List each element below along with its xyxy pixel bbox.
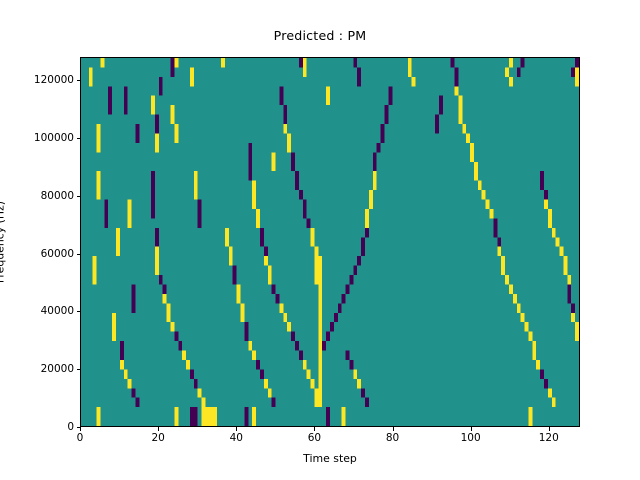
x-tick-mark [236, 427, 237, 431]
y-tick-label: 80000 [0, 190, 74, 202]
x-tick-label: 20 [151, 432, 164, 444]
matplotlib-figure: Predicted : PM 020406080100120 020000400… [0, 0, 640, 480]
y-tick-label: 60000 [0, 248, 74, 260]
y-tick-mark [77, 138, 81, 139]
y-tick-label: 100000 [0, 132, 74, 144]
x-tick-mark [549, 427, 550, 431]
y-tick-mark [77, 254, 81, 255]
y-tick-mark [77, 311, 81, 312]
page-title: Predicted : PM [0, 28, 640, 43]
heatmap-image [81, 58, 579, 426]
y-tick-label: 20000 [0, 363, 74, 375]
y-tick-label: 120000 [0, 74, 74, 86]
y-tick-label: 0 [0, 421, 74, 433]
x-tick-label: 0 [77, 432, 84, 444]
x-tick-mark [80, 427, 81, 431]
y-tick-mark [77, 369, 81, 370]
y-tick-mark [77, 427, 81, 428]
x-tick-mark [314, 427, 315, 431]
x-tick-mark [158, 427, 159, 431]
heatmap-plot-area [80, 57, 580, 427]
x-tick-label: 60 [308, 432, 321, 444]
y-axis-label: Frequency (Hz) [0, 201, 7, 283]
x-tick-label: 40 [230, 432, 243, 444]
x-axis-label: Time step [80, 452, 580, 465]
x-tick-label: 120 [539, 432, 559, 444]
x-tick-label: 80 [386, 432, 399, 444]
y-tick-mark [77, 80, 81, 81]
y-tick-mark [77, 196, 81, 197]
x-tick-mark [471, 427, 472, 431]
x-tick-mark [393, 427, 394, 431]
x-tick-label: 100 [461, 432, 481, 444]
y-tick-label: 40000 [0, 305, 74, 317]
